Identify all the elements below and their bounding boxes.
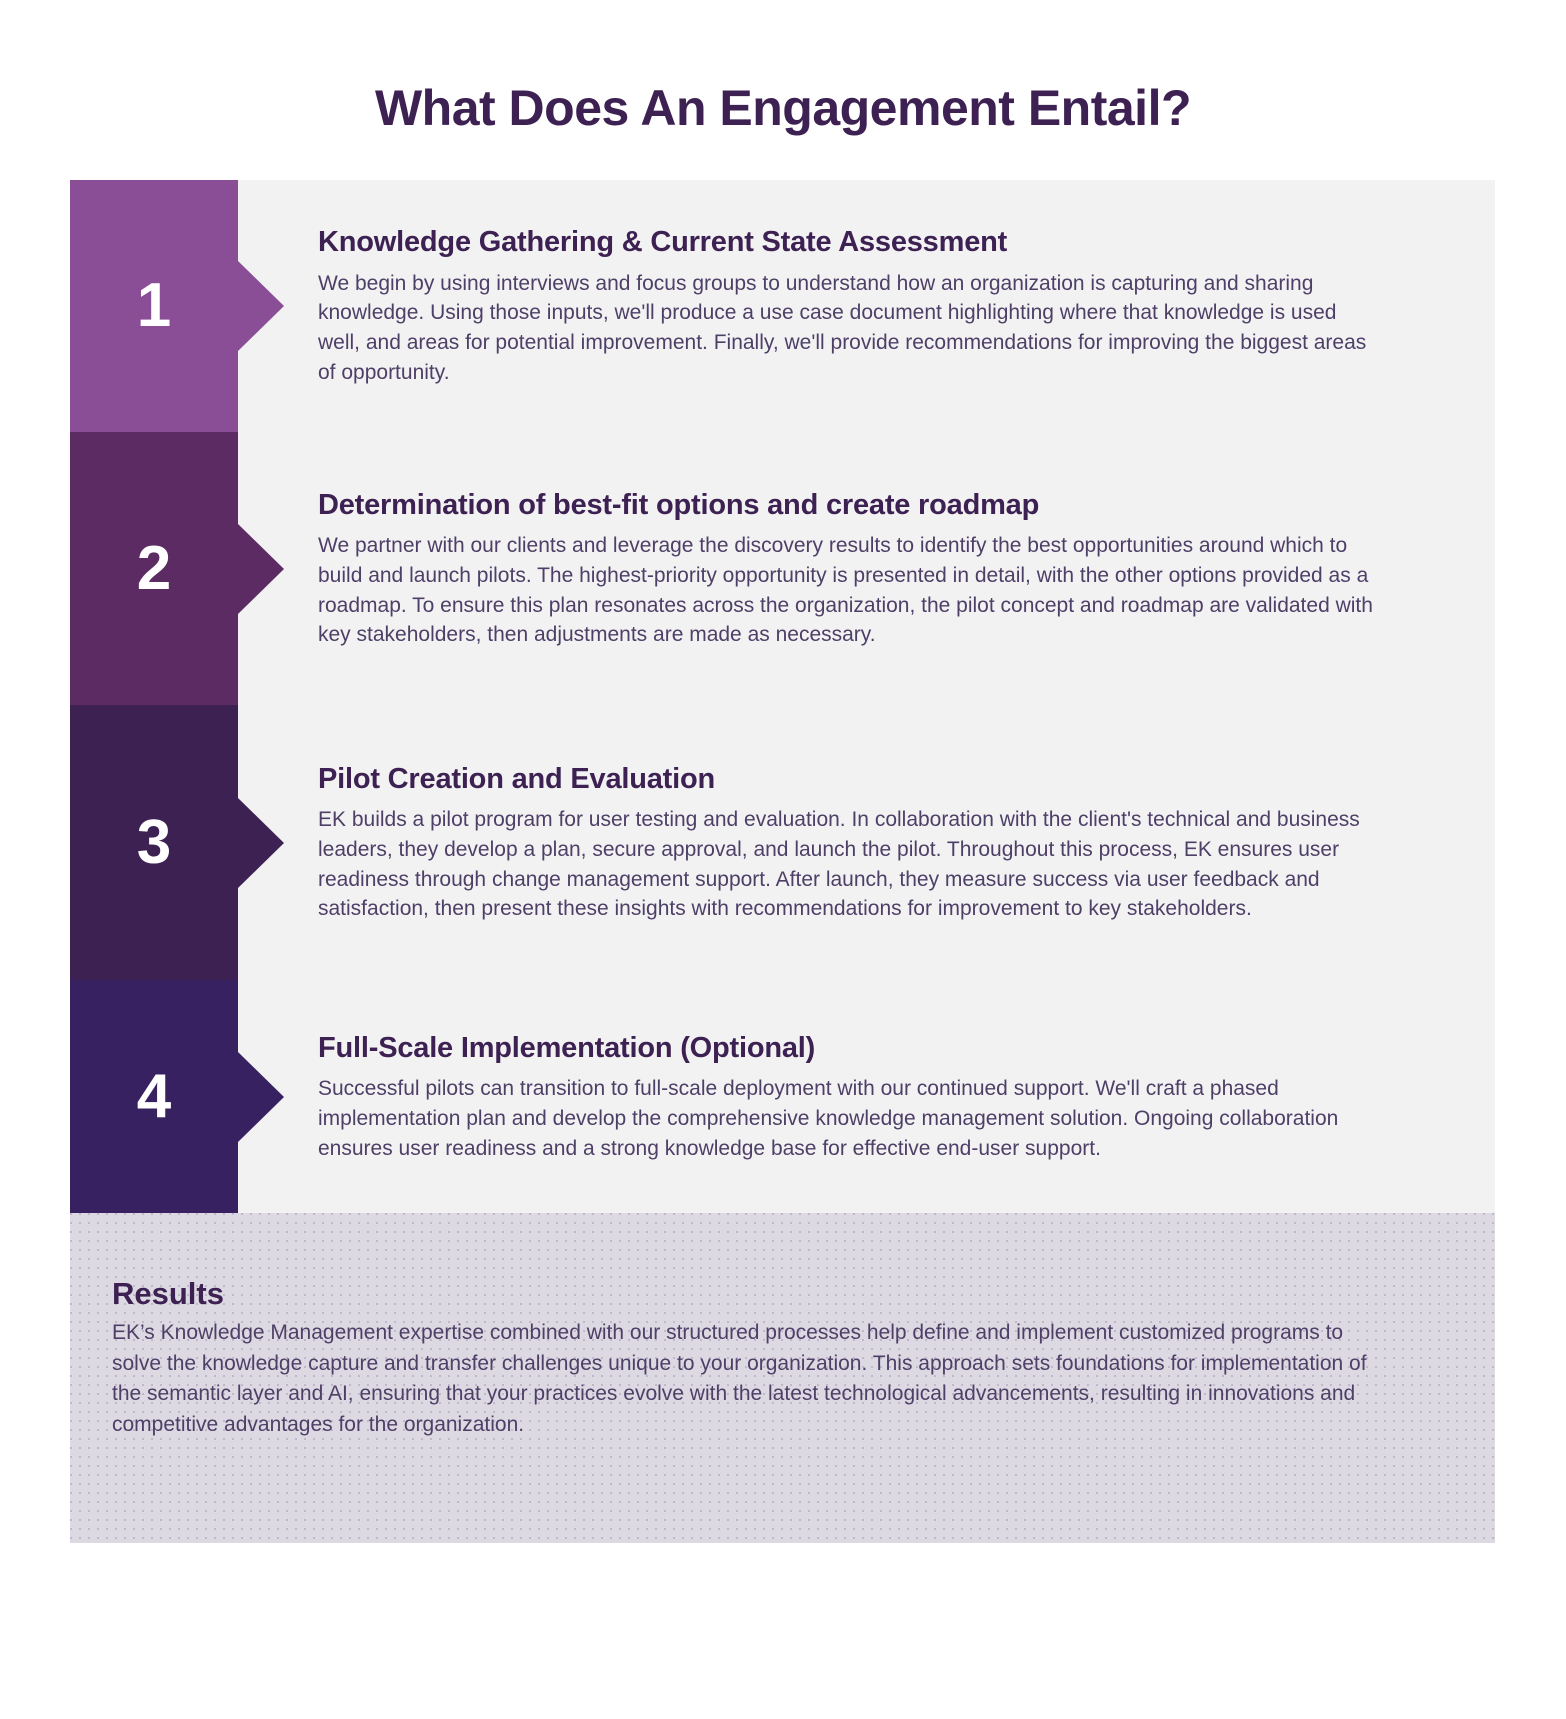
step-body-2: We partner with our clients and leverage… (318, 531, 1378, 650)
results-panel: Results EK’s Knowledge Management expert… (70, 1213, 1495, 1543)
step-heading-3: Pilot Creation and Evaluation (318, 761, 1435, 797)
step-heading-4: Full-Scale Implementation (Optional) (318, 1030, 1435, 1066)
step-row: 1 Knowledge Gathering & Current State As… (70, 180, 1495, 432)
results-body: EK’s Knowledge Management expertise comb… (112, 1318, 1392, 1440)
step-row: 3 Pilot Creation and Evaluation EK build… (70, 705, 1495, 980)
step-number-2: 2 (137, 538, 171, 600)
step-content-1: Knowledge Gathering & Current State Asse… (238, 180, 1495, 432)
chevron-right-icon (238, 1052, 284, 1142)
step-heading-1: Knowledge Gathering & Current State Asse… (318, 224, 1435, 260)
page-title: What Does An Engagement Entail? (0, 78, 1566, 138)
infographic-page: What Does An Engagement Entail? 1 Knowle… (0, 0, 1566, 1719)
chevron-right-icon (238, 524, 284, 614)
step-heading-2: Determination of best-fit options and cr… (318, 487, 1435, 523)
step-number-1: 1 (137, 275, 171, 337)
step-number-3: 3 (137, 812, 171, 874)
results-heading: Results (112, 1275, 1395, 1312)
chevron-right-icon (238, 798, 284, 888)
steps-panel: 1 Knowledge Gathering & Current State As… (70, 180, 1495, 1213)
step-number-4: 4 (137, 1066, 171, 1128)
step-body-4: Successful pilots can transition to full… (318, 1074, 1378, 1163)
step-number-band-4: 4 (70, 980, 238, 1213)
chevron-right-icon (238, 261, 284, 351)
step-body-3: EK builds a pilot program for user testi… (318, 805, 1378, 924)
step-number-band-1: 1 (70, 180, 238, 432)
step-row: 2 Determination of best-fit options and … (70, 432, 1495, 705)
step-body-1: We begin by using interviews and focus g… (318, 269, 1378, 388)
step-content-2: Determination of best-fit options and cr… (238, 432, 1495, 705)
step-number-band-3: 3 (70, 705, 238, 980)
step-row: 4 Full-Scale Implementation (Optional) S… (70, 980, 1495, 1213)
step-content-4: Full-Scale Implementation (Optional) Suc… (238, 980, 1495, 1213)
step-content-3: Pilot Creation and Evaluation EK builds … (238, 705, 1495, 980)
step-number-band-2: 2 (70, 432, 238, 705)
